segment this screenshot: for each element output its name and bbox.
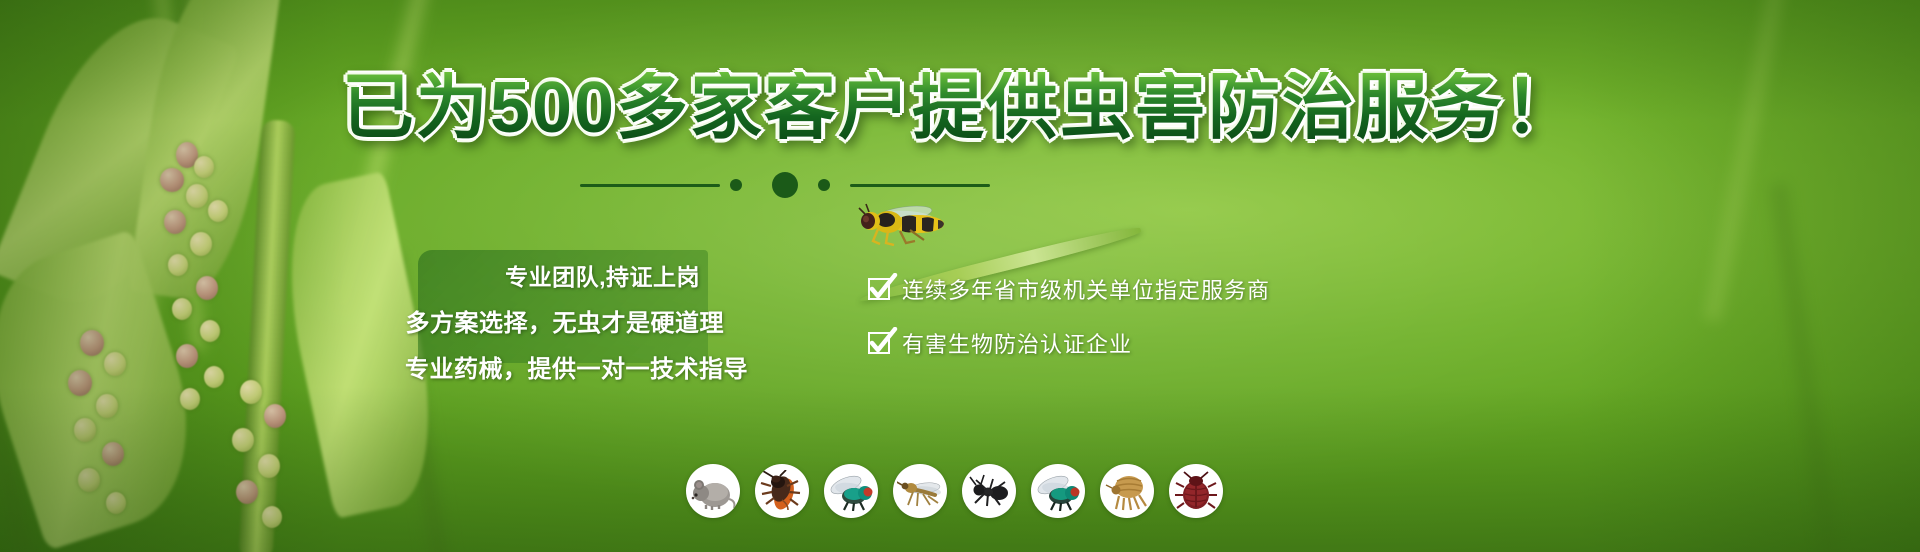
decorative-divider <box>0 173 1920 197</box>
divider-dot-small-left <box>730 179 742 191</box>
pest-icon-blowfly[interactable] <box>1031 464 1085 518</box>
list-item: 连续多年省市级机关单位指定服务商 <box>868 273 1270 305</box>
pest-icon-housefly[interactable] <box>824 464 878 518</box>
checkbox-checked-icon <box>868 332 890 354</box>
list-item: 有害生物防治认证企业 <box>868 327 1270 359</box>
pest-icon-row <box>686 464 1223 518</box>
feature-line-2: 多方案选择，无虫才是硬道理 <box>406 303 751 338</box>
promo-banner: 已为500多家客户提供虫害防治服务！ 专业团队,持证上岗 多方案选择，无虫才是硬… <box>0 0 1920 552</box>
page-title: 已为500多家客户提供虫害防治服务！ <box>0 72 1920 144</box>
credential-label: 连续多年省市级机关单位指定服务商 <box>902 273 1270 305</box>
pest-icon-cockroach[interactable] <box>755 464 809 518</box>
pest-icon-bedbug[interactable] <box>1169 464 1223 518</box>
hoverfly-icon <box>852 200 950 246</box>
pest-icon-mosquito[interactable] <box>893 464 947 518</box>
feature-panel-text: 专业团队,持证上岗 多方案选择，无虫才是硬道理 专业药械，提供一对一技术指导 <box>330 258 750 384</box>
pest-icon-flea[interactable] <box>1100 464 1154 518</box>
credential-label: 有害生物防治认证企业 <box>902 327 1132 359</box>
checkbox-checked-icon <box>868 278 890 300</box>
divider-rule-right <box>850 184 990 187</box>
pest-icon-mouse[interactable] <box>686 464 740 518</box>
divider-dot-small-right <box>818 179 830 191</box>
divider-rule-left <box>580 184 720 187</box>
feature-line-3: 专业药械，提供一对一技术指导 <box>405 349 750 384</box>
credentials-list: 连续多年省市级机关单位指定服务商 有害生物防治认证企业 <box>868 273 1270 359</box>
divider-dot-large <box>772 172 798 198</box>
pest-icon-ant[interactable] <box>962 464 1016 518</box>
feature-line-1: 专业团队,持证上岗 <box>505 258 750 292</box>
